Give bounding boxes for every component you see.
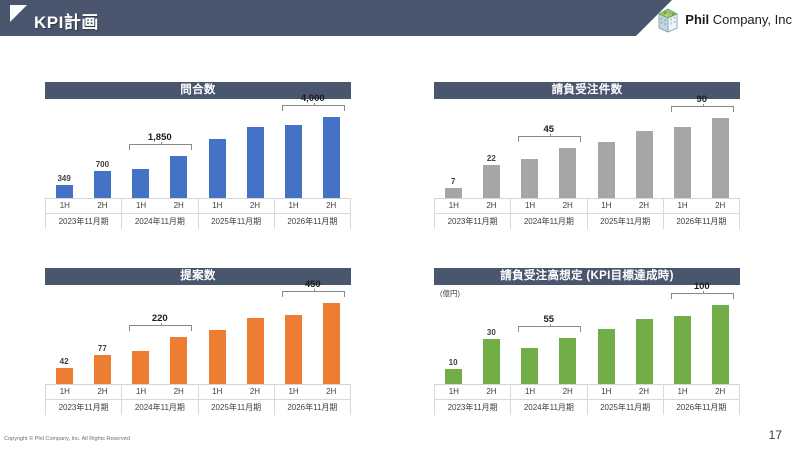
axis-halves: 1H2H: [588, 384, 663, 399]
axis-group: 1H2H2025年11月期: [588, 198, 664, 229]
axis-half-label: 2H: [312, 384, 350, 399]
axis-half-label: 1H: [588, 384, 626, 399]
axis-half-label: 1H: [588, 198, 626, 213]
value-bracket: [282, 291, 345, 297]
axis-group: 1H2H2026年11月期: [664, 384, 740, 415]
axis-halves: 1H2H: [46, 384, 121, 399]
bar-value-label: 700: [82, 160, 122, 169]
chart-plot-order-revenue: 103055100: [434, 292, 740, 385]
axis-period-label: 2025年11月期: [199, 213, 274, 229]
page-title: KPI計画: [34, 8, 99, 33]
axis-half-label: 2H: [473, 384, 511, 399]
bar: [712, 118, 729, 198]
bracket-value-label: 90: [671, 94, 732, 105]
axis-half-label: 1H: [435, 198, 473, 213]
copyright-text: Copyright © Phil Company, Inc. All Right…: [4, 436, 130, 442]
page-number: 17: [769, 428, 782, 442]
value-bracket: [518, 136, 581, 142]
axis-half-label: 2H: [84, 384, 122, 399]
bar: [247, 318, 264, 384]
chart-axis-proposals: 1H2H2023年11月期1H2H2024年11月期1H2H2025年11月期1…: [45, 384, 351, 415]
axis-halves: 1H2H: [122, 198, 197, 213]
axis-period-label: 2025年11月期: [199, 399, 274, 415]
bar: [132, 351, 149, 384]
axis-halves: 1H2H: [199, 198, 274, 213]
bar-value-label: 30: [471, 328, 511, 337]
axis-halves: 1H2H: [199, 384, 274, 399]
axis-half-label: 1H: [275, 384, 313, 399]
axis-period-label: 2026年11月期: [664, 399, 739, 415]
axis-halves: 1H2H: [122, 384, 197, 399]
axis-half-label: 1H: [275, 198, 313, 213]
axis-half-label: 1H: [435, 384, 473, 399]
axis-period-label: 2025年11月期: [588, 399, 663, 415]
chart-plot-inquiries: 3497001,8504,000: [45, 106, 351, 199]
bar: [56, 368, 73, 384]
axis-group: 1H2H2024年11月期: [122, 384, 198, 415]
axis-half-label: 1H: [46, 198, 84, 213]
chart-axis-order-revenue: 1H2H2023年11月期1H2H2024年11月期1H2H2025年11月期1…: [434, 384, 740, 415]
axis-half-label: 2H: [625, 198, 663, 213]
axis-half-label: 2H: [236, 384, 274, 399]
bracket-value-label: 450: [282, 279, 343, 290]
axis-halves: 1H2H: [664, 384, 739, 399]
axis-period-label: 2024年11月期: [122, 399, 197, 415]
axis-halves: 1H2H: [511, 384, 586, 399]
bar: [170, 156, 187, 198]
bar: [445, 188, 462, 198]
axis-group: 1H2H2024年11月期: [511, 384, 587, 415]
value-bracket: [671, 293, 734, 299]
bar: [559, 338, 576, 384]
axis-period-label: 2025年11月期: [588, 213, 663, 229]
bar: [209, 139, 226, 198]
bar: [483, 339, 500, 384]
chart-axis-inquiries: 1H2H2023年11月期1H2H2024年11月期1H2H2025年11月期1…: [45, 198, 351, 229]
bar: [94, 355, 111, 384]
brand-name: Phil Company, Inc: [685, 12, 792, 27]
axis-group: 1H2H2024年11月期: [122, 198, 198, 229]
axis-halves: 1H2H: [46, 198, 121, 213]
header-band: [0, 0, 672, 36]
chart-panel-contract-orders: 請負受注件数72245901H2H2023年11月期1H2H2024年11月期1…: [434, 82, 740, 99]
axis-half-label: 1H: [199, 384, 237, 399]
axis-group: 1H2H2026年11月期: [275, 198, 351, 229]
axis-half-label: 2H: [160, 384, 198, 399]
building-logo-icon: [655, 5, 681, 33]
axis-period-label: 2023年11月期: [435, 213, 510, 229]
axis-half-label: 2H: [625, 384, 663, 399]
bar-value-label: 22: [471, 154, 511, 163]
axis-halves: 1H2H: [664, 198, 739, 213]
bar: [598, 142, 615, 198]
bar-value-label: 349: [44, 174, 84, 183]
value-bracket: [129, 325, 192, 331]
axis-period-label: 2023年11月期: [46, 213, 121, 229]
axis-half-label: 1H: [199, 198, 237, 213]
bar: [521, 159, 538, 198]
bar: [247, 127, 264, 198]
axis-half-label: 2H: [549, 384, 587, 399]
axis-period-label: 2026年11月期: [275, 399, 350, 415]
bracket-value-label: 220: [129, 313, 190, 324]
chart-panel-order-revenue: 請負受注高想定 (KPI目標達成時)(億円)1030551001H2H2023年…: [434, 268, 740, 285]
bar: [445, 369, 462, 384]
bar: [94, 171, 111, 198]
axis-half-label: 2H: [84, 198, 122, 213]
axis-half-label: 2H: [312, 198, 350, 213]
axis-halves: 1H2H: [511, 198, 586, 213]
axis-group: 1H2H2025年11月期: [199, 198, 275, 229]
axis-halves: 1H2H: [275, 198, 350, 213]
bar-value-label: 7: [433, 177, 473, 186]
axis-period-label: 2023年11月期: [435, 399, 510, 415]
brand-logo: Phil Company, Inc: [655, 4, 792, 34]
bar: [559, 148, 576, 198]
chart-panel-inquiries: 問合数3497001,8504,0001H2H2023年11月期1H2H2024…: [45, 82, 351, 99]
axis-half-label: 1H: [511, 198, 549, 213]
corner-triangle-icon: [10, 5, 27, 22]
bar: [209, 330, 226, 384]
axis-half-label: 2H: [160, 198, 198, 213]
axis-period-label: 2024年11月期: [122, 213, 197, 229]
axis-half-label: 1H: [511, 384, 549, 399]
brand-name-light: Company, Inc: [709, 12, 792, 27]
brand-name-bold: Phil: [685, 12, 709, 27]
value-bracket: [282, 105, 345, 111]
axis-half-label: 2H: [236, 198, 274, 213]
axis-period-label: 2026年11月期: [664, 213, 739, 229]
axis-half-label: 2H: [473, 198, 511, 213]
bar-value-label: 10: [433, 358, 473, 367]
axis-group: 1H2H2024年11月期: [511, 198, 587, 229]
axis-half-label: 1H: [46, 384, 84, 399]
bracket-value-label: 45: [518, 124, 579, 135]
value-bracket: [671, 106, 734, 112]
bar: [636, 319, 653, 384]
axis-group: 1H2H2025年11月期: [199, 384, 275, 415]
axis-period-label: 2026年11月期: [275, 213, 350, 229]
bar-value-label: 77: [82, 344, 122, 353]
bar: [521, 348, 538, 384]
axis-halves: 1H2H: [275, 384, 350, 399]
chart-plot-contract-orders: 7224590: [434, 106, 740, 199]
axis-half-label: 2H: [549, 198, 587, 213]
axis-group: 1H2H2026年11月期: [664, 198, 740, 229]
bar: [56, 185, 73, 198]
bracket-value-label: 4,000: [282, 93, 343, 104]
axis-half-label: 1H: [664, 384, 702, 399]
axis-group: 1H2H2023年11月期: [434, 198, 511, 229]
axis-half-label: 2H: [701, 198, 739, 213]
bar: [483, 165, 500, 198]
axis-halves: 1H2H: [588, 198, 663, 213]
chart-axis-contract-orders: 1H2H2023年11月期1H2H2024年11月期1H2H2025年11月期1…: [434, 198, 740, 229]
axis-half-label: 1H: [122, 198, 160, 213]
bar: [712, 305, 729, 384]
axis-period-label: 2023年11月期: [46, 399, 121, 415]
bar: [132, 169, 149, 198]
bracket-value-label: 100: [671, 281, 732, 292]
bracket-value-label: 1,850: [129, 132, 190, 143]
bar: [323, 303, 340, 384]
bar: [598, 329, 615, 384]
bar: [636, 131, 653, 198]
axis-group: 1H2H2023年11月期: [434, 384, 511, 415]
axis-group: 1H2H2026年11月期: [275, 384, 351, 415]
bar: [170, 337, 187, 384]
bracket-value-label: 55: [518, 314, 579, 325]
bar: [674, 127, 691, 198]
page-header: KPI計画 Phil Company, Inc: [0, 0, 800, 36]
bar: [674, 316, 691, 384]
bar: [285, 315, 302, 384]
value-bracket: [129, 144, 192, 150]
axis-period-label: 2024年11月期: [511, 213, 586, 229]
axis-halves: 1H2H: [435, 384, 510, 399]
axis-period-label: 2024年11月期: [511, 399, 586, 415]
chart-panel-proposals: 提案数42772204501H2H2023年11月期1H2H2024年11月期1…: [45, 268, 351, 285]
axis-half-label: 2H: [701, 384, 739, 399]
axis-halves: 1H2H: [435, 198, 510, 213]
bar: [285, 125, 302, 198]
axis-half-label: 1H: [122, 384, 160, 399]
bar-value-label: 42: [44, 357, 84, 366]
axis-group: 1H2H2023年11月期: [45, 384, 122, 415]
axis-group: 1H2H2023年11月期: [45, 198, 122, 229]
value-bracket: [518, 326, 581, 332]
bar: [323, 117, 340, 198]
axis-group: 1H2H2025年11月期: [588, 384, 664, 415]
chart-plot-proposals: 4277220450: [45, 292, 351, 385]
axis-half-label: 1H: [664, 198, 702, 213]
